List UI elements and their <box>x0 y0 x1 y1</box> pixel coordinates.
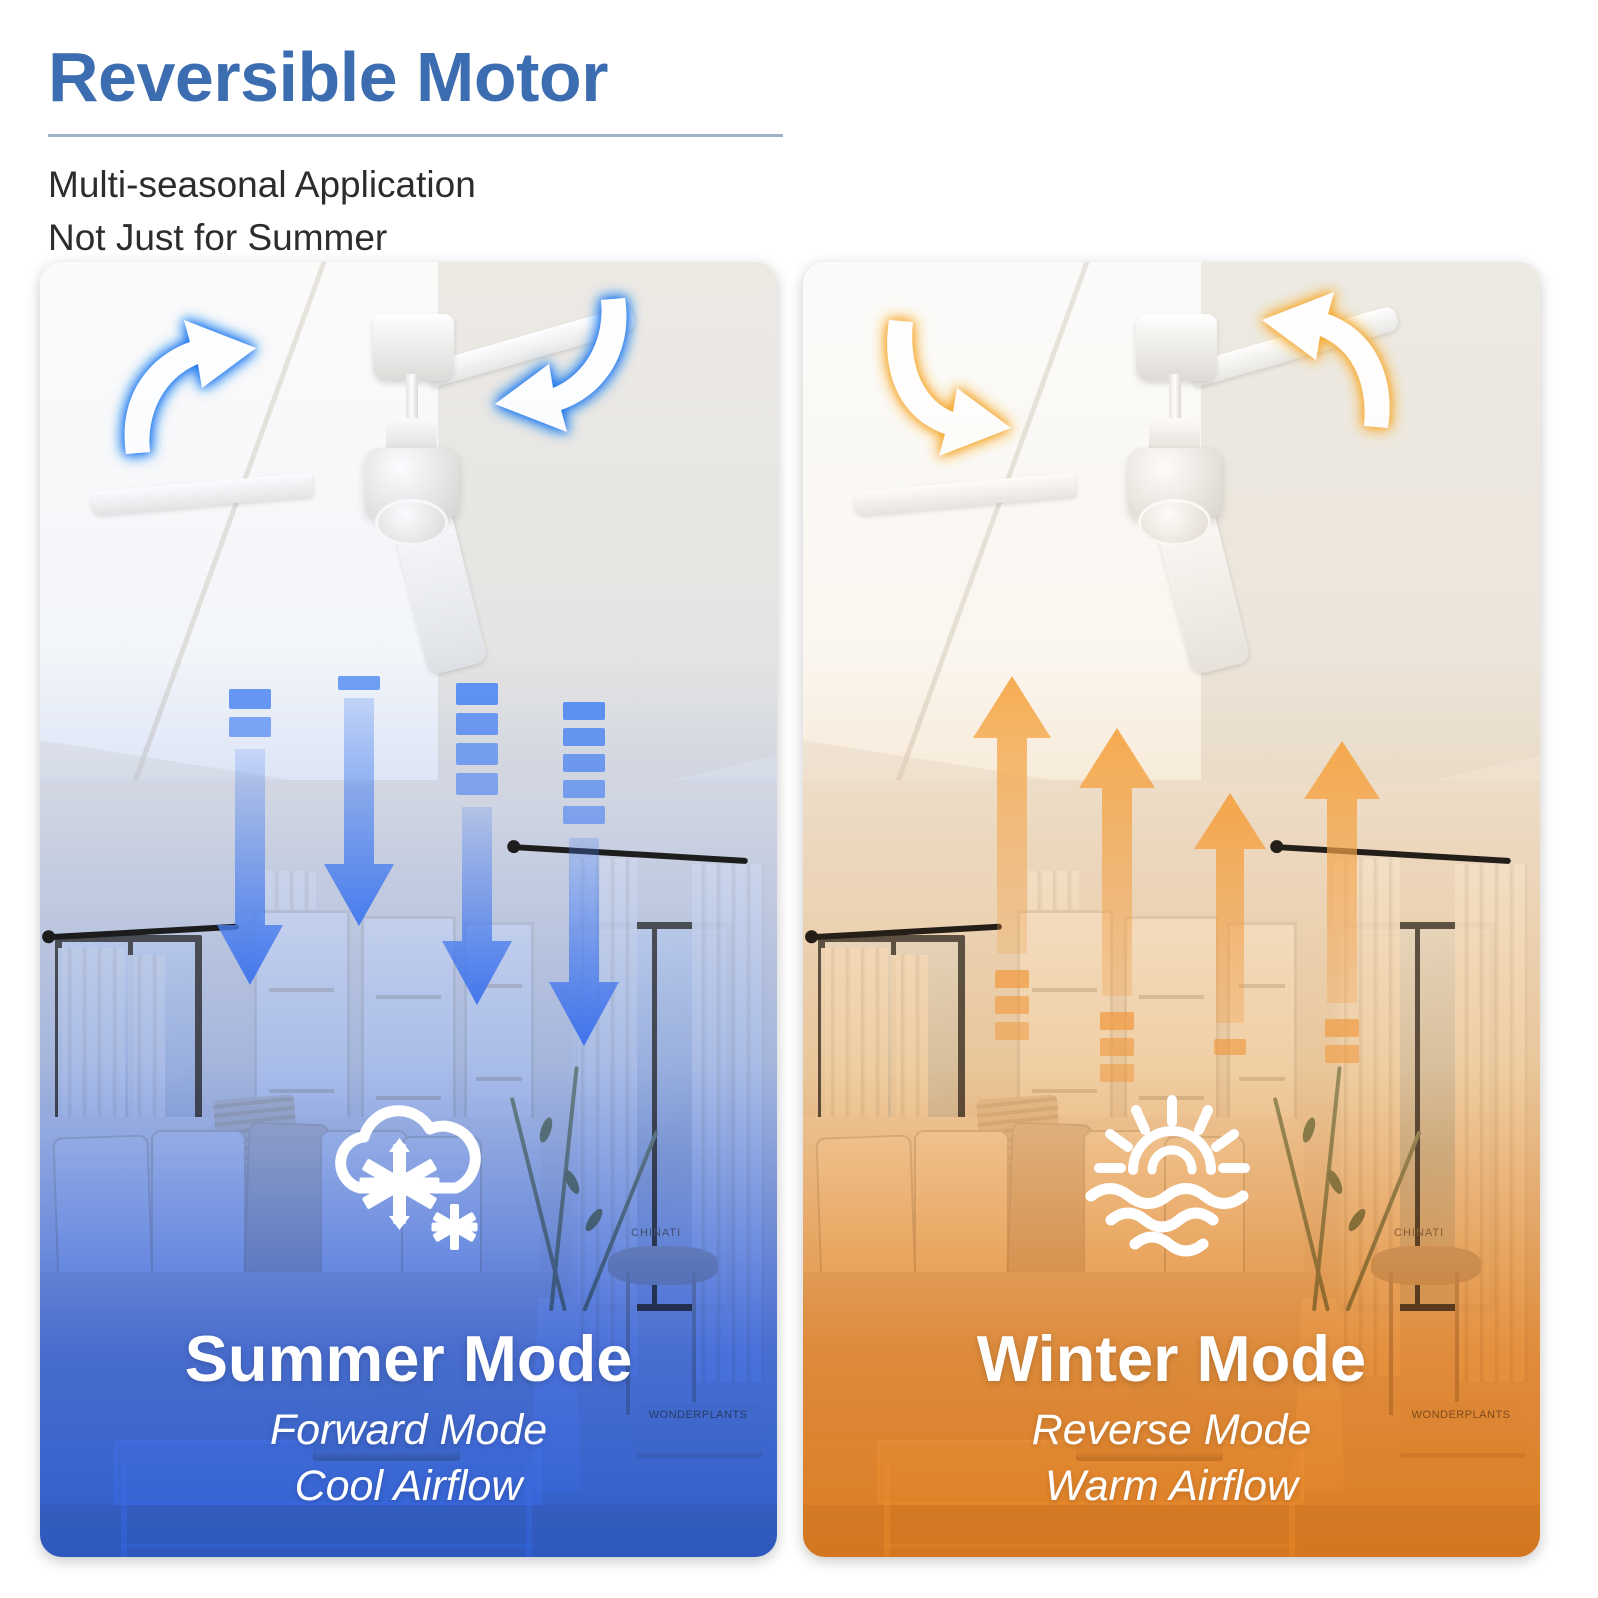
sun-over-water-icon <box>1077 1092 1267 1257</box>
mode-sub-line-2: Cool Airflow <box>40 1459 777 1515</box>
panel-winter-mode[interactable]: CHINATI WONDERPLANTS <box>803 262 1540 1557</box>
page-title: Reversible Motor <box>48 42 1548 112</box>
mode-sub-line-2: Warm Airflow <box>803 1459 1540 1515</box>
mode-subtitle: Reverse Mode Warm Airflow <box>803 1403 1540 1515</box>
infographic-page: Reversible Motor Multi-seasonal Applicat… <box>0 0 1598 1598</box>
panel-summer-mode[interactable]: CHINATI WONDERPLANTS <box>40 262 777 1557</box>
mode-subtitle: Forward Mode Cool Airflow <box>40 1403 777 1515</box>
mode-sub-line-1: Reverse Mode <box>803 1403 1540 1459</box>
mode-sub-line-1: Forward Mode <box>40 1403 777 1459</box>
cloud-snowflake-icon <box>314 1092 504 1257</box>
subtitle-line-1: Multi-seasonal Application <box>48 159 1548 212</box>
mode-panels: CHINATI WONDERPLANTS <box>40 262 1540 1557</box>
header: Reversible Motor Multi-seasonal Applicat… <box>48 42 1548 264</box>
caption-winter: Winter Mode Reverse Mode Warm Airflow <box>803 1325 1540 1515</box>
page-subtitle: Multi-seasonal Application Not Just for … <box>48 159 1548 264</box>
subtitle-line-2: Not Just for Summer <box>48 212 1548 265</box>
caption-summer: Summer Mode Forward Mode Cool Airflow <box>40 1325 777 1515</box>
mode-title: Winter Mode <box>803 1325 1540 1393</box>
title-divider <box>48 134 783 137</box>
mode-title: Summer Mode <box>40 1325 777 1393</box>
